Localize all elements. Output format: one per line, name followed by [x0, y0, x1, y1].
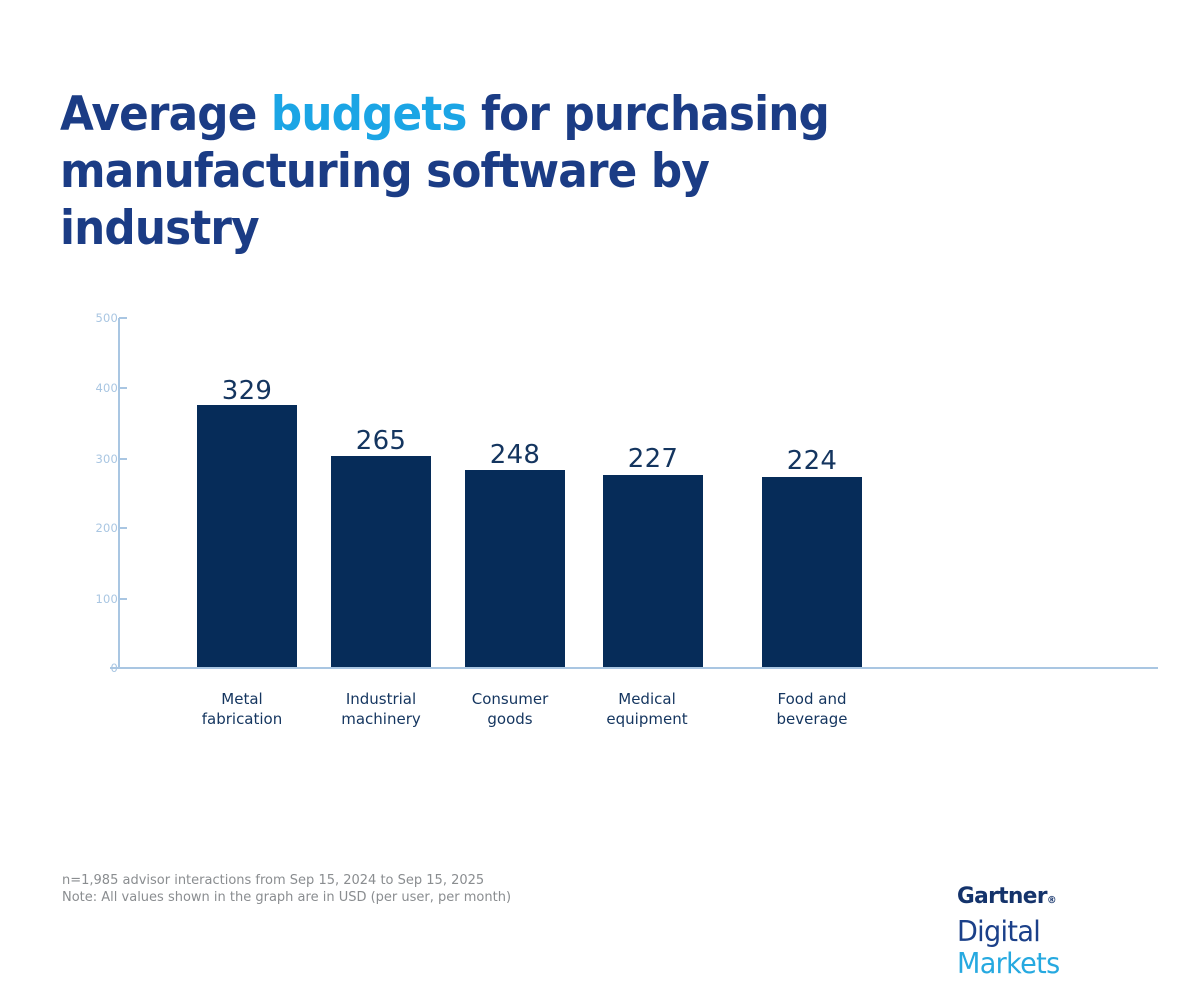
- y-axis-tick-400: 400: [60, 381, 118, 395]
- y-axis-tick-mark: [119, 527, 127, 529]
- bar-food-and-beverage[interactable]: [762, 477, 862, 667]
- y-axis-tick-500: 500: [60, 311, 118, 325]
- bar-industrial-machinery[interactable]: [331, 456, 431, 667]
- y-axis-tick-mark: [119, 458, 127, 460]
- x-axis-label-food-and-beverage: Food and beverage: [737, 690, 887, 729]
- bar-value-food-and-beverage: 224: [762, 446, 862, 476]
- y-axis-tick-mark: [119, 667, 127, 669]
- logo-product-second: Markets: [957, 947, 1060, 980]
- bar-consumer-goods[interactable]: [465, 470, 565, 667]
- y-axis-tick-label: 100: [95, 592, 118, 606]
- bar-value-consumer-goods: 248: [465, 440, 565, 470]
- footnote-sample-size: n=1,985 advisor interactions from Sep 15…: [62, 873, 511, 890]
- bar-value-medical-equipment: 227: [603, 444, 703, 474]
- x-axis-label-medical-equipment: Medical equipment: [572, 690, 722, 729]
- y-axis-line: [118, 318, 120, 668]
- registered-trademark-icon: ®: [1047, 895, 1056, 906]
- bar-value-industrial-machinery: 265: [331, 426, 431, 456]
- x-axis-label-industrial-machinery: Industrial machinery: [306, 690, 456, 729]
- y-axis-tick-100: 100: [60, 592, 118, 606]
- x-axis-label-metal-fabrication: Metal fabrication: [167, 690, 317, 729]
- bar-chart: 500 400 300 200 100 0 329 265 248 227 22…: [0, 0, 1200, 1000]
- y-axis-tick-300: 300: [60, 452, 118, 466]
- y-axis-tick-label: 300: [95, 452, 118, 466]
- y-axis-tick-label: 500: [95, 311, 118, 325]
- y-axis-tick-label: 0: [110, 661, 118, 675]
- y-axis-tick-mark: [119, 598, 127, 600]
- bar-value-metal-fabrication: 329: [197, 376, 297, 406]
- y-axis-tick-mark: [119, 317, 127, 319]
- footnote: n=1,985 advisor interactions from Sep 15…: [62, 873, 511, 906]
- y-axis-tick-0: 0: [60, 661, 118, 675]
- x-axis-label-consumer-goods: Consumer goods: [435, 690, 585, 729]
- logo-gartner-digital-markets: Gartner® Digital Markets: [957, 884, 1147, 980]
- bar-metal-fabrication[interactable]: [197, 405, 297, 667]
- logo-brand-text: Gartner: [957, 883, 1047, 909]
- y-axis-tick-label: 400: [95, 381, 118, 395]
- y-axis-tick-label: 200: [95, 521, 118, 535]
- x-axis-line: [110, 667, 1158, 669]
- logo-product-first: Digital: [957, 915, 1040, 948]
- logo-product: Digital Markets: [957, 916, 1138, 980]
- y-axis-tick-200: 200: [60, 521, 118, 535]
- footnote-note: Note: All values shown in the graph are …: [62, 890, 511, 907]
- bar-medical-equipment[interactable]: [603, 475, 703, 667]
- y-axis-tick-mark: [119, 387, 127, 389]
- logo-brand: Gartner®: [957, 884, 1139, 913]
